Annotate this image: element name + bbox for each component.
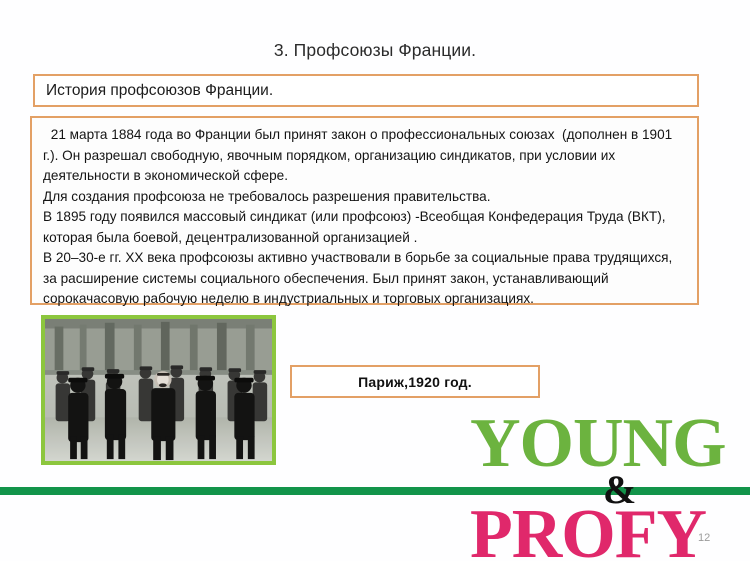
body-text-box: 21 марта 1884 года во Франции был принят… [30, 116, 699, 305]
body-paragraph: В 20–30-е гг. XX века профсоюзы активно … [43, 248, 687, 310]
page-number: 12 [698, 532, 710, 544]
heading-box: История профсоюзов Франции. [33, 74, 699, 107]
page-title: 3. Профсоюзы Франции. [0, 40, 750, 61]
historical-photo [41, 315, 276, 465]
body-paragraph: 21 марта 1884 года во Франции был принят… [43, 125, 687, 187]
brand-logo: YOUNG & PROFY 12 [470, 408, 750, 561]
logo-ampersand: & [603, 470, 636, 510]
heading-text: История профсоюзов Франции. [35, 82, 273, 100]
slide-canvas: 3. Профсоюзы Франции. История профсоюзов… [0, 0, 750, 561]
body-paragraph: В 1895 году появился массовый синдикат (… [43, 207, 687, 248]
photo-illustration [45, 319, 272, 461]
body-paragraph: Для создания профсоюза не требовалось ра… [43, 187, 687, 208]
photo-caption-text: Париж,1920 год. [358, 374, 472, 390]
photo-caption-box: Париж,1920 год. [290, 365, 540, 398]
